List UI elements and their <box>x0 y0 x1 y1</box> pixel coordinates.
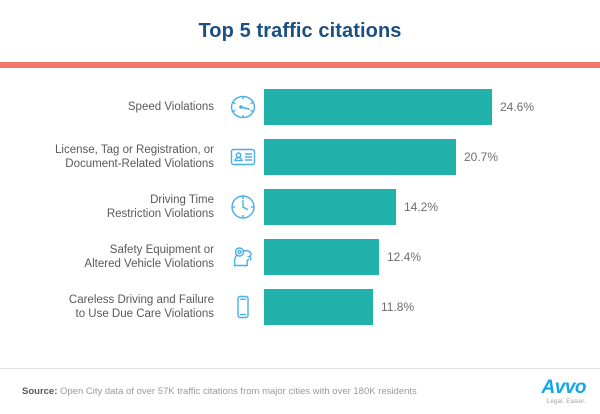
table-row: License, Tag or Registration, or Documen… <box>0 132 600 182</box>
avvo-logo: Avvo Legal. Easier. <box>542 378 586 405</box>
bar-value-label: 14.2% <box>396 200 438 214</box>
infographic-card: Top 5 traffic citations Speed Violations <box>0 0 600 414</box>
speedometer-icon <box>222 89 264 125</box>
page-title: Top 5 traffic citations <box>198 20 401 43</box>
source-note: Source: Open City data of over 57K traff… <box>22 386 417 398</box>
clock-icon <box>222 189 264 225</box>
table-row: Safety Equipment or Altered Vehicle Viol… <box>0 232 600 282</box>
bar-value-label: 12.4% <box>379 250 421 264</box>
bar-fill <box>264 189 396 225</box>
table-row: Speed Violations 24.6% <box>0 82 600 132</box>
logo-wordmark: Avvo <box>542 378 586 397</box>
bar-value-label: 11.8% <box>373 300 414 314</box>
footer: Source: Open City data of over 57K traff… <box>0 368 600 414</box>
bar-category-label: Driving Time Restriction Violations <box>0 193 222 221</box>
table-row: Driving Time Restriction Violations 14.2… <box>0 182 600 232</box>
bar-track: 11.8% <box>264 289 600 325</box>
bar-track: 24.6% <box>264 89 600 125</box>
bar-category-label: Speed Violations <box>0 100 222 114</box>
bar-track: 20.7% <box>264 139 600 175</box>
id-card-icon <box>222 139 264 175</box>
bar-fill <box>264 89 492 125</box>
airbag-icon <box>222 239 264 275</box>
bar-value-label: 24.6% <box>492 100 534 114</box>
bar-fill <box>264 239 379 275</box>
table-row: Careless Driving and Failure to Use Due … <box>0 282 600 332</box>
mobile-phone-icon <box>222 289 264 325</box>
bar-track: 14.2% <box>264 189 600 225</box>
bar-fill <box>264 289 373 325</box>
bar-chart: Speed Violations 24.6% <box>0 68 600 368</box>
bar-category-label: Safety Equipment or Altered Vehicle Viol… <box>0 243 222 271</box>
source-body: Open City data of over 57K traffic citat… <box>57 386 416 397</box>
bar-value-label: 20.7% <box>456 150 498 164</box>
bar-fill <box>264 139 456 175</box>
bar-category-label: Careless Driving and Failure to Use Due … <box>0 293 222 321</box>
source-label: Source: <box>22 386 57 397</box>
bar-track: 12.4% <box>264 239 600 275</box>
bar-category-label: License, Tag or Registration, or Documen… <box>0 143 222 171</box>
chart-header: Top 5 traffic citations <box>0 0 600 62</box>
logo-tagline: Legal. Easier. <box>547 399 586 405</box>
